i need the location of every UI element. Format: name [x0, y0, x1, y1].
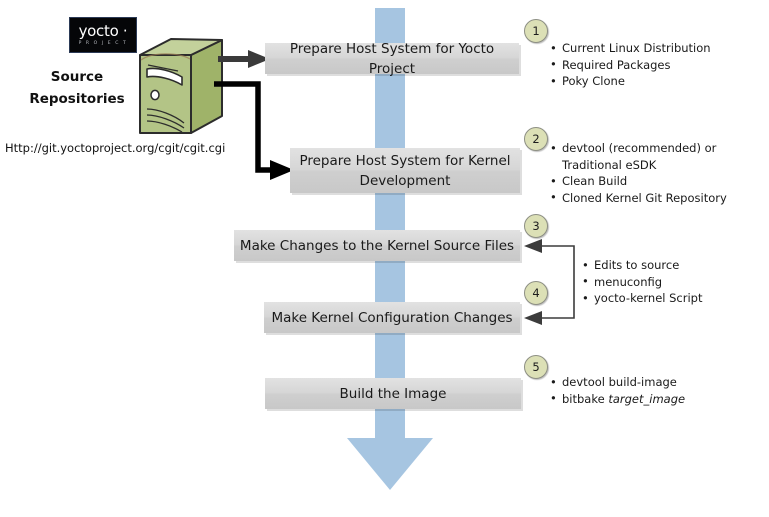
process-box-step5-label: Build the Image — [340, 384, 447, 404]
bullet-item: Edits to source — [582, 257, 703, 274]
flow-arrow-head — [347, 438, 433, 490]
bullet-list-step5: devtool build-image bitbake target_image — [550, 374, 685, 407]
bullet-item: Current Linux Distribution — [550, 40, 711, 57]
step-circle-4: 4 — [524, 281, 548, 305]
process-box-step3[interactable]: Make Changes to the Kernel Source Files — [234, 230, 520, 261]
step-circle-1: 1 — [524, 19, 548, 43]
process-box-step4-label: Make Kernel Configuration Changes — [271, 308, 512, 328]
bullet-item: Required Packages — [550, 57, 711, 74]
step-number-2: 2 — [532, 132, 539, 146]
bullet-item-bitbake: bitbake target_image — [550, 391, 685, 408]
step-number-5: 5 — [532, 360, 539, 374]
step-circle-5: 5 — [524, 355, 548, 379]
bullet-list-step1: Current Linux Distribution Required Pack… — [550, 40, 711, 90]
bullet-list-step2: devtool (recommended) or Traditional eSD… — [550, 140, 727, 206]
step-number-4: 4 — [532, 286, 539, 300]
bullet-item-continuation: Traditional eSDK — [550, 157, 727, 174]
process-box-step1-label: Prepare Host System for Yocto Project — [265, 39, 519, 79]
bullet-item: Poky Clone — [550, 73, 711, 90]
step-number-1: 1 — [532, 24, 539, 38]
connector-server-to-step2 — [212, 78, 302, 180]
process-box-step1[interactable]: Prepare Host System for Yocto Project — [265, 43, 519, 74]
bullet-item: menuconfig — [582, 274, 703, 291]
process-box-step2-line2: Development — [360, 173, 451, 189]
process-box-step3-label: Make Changes to the Kernel Source Files — [240, 236, 514, 256]
source-repository-url: Http://git.yoctoproject.org/cgit/cgit.cg… — [5, 141, 225, 155]
process-box-step5[interactable]: Build the Image — [265, 378, 521, 409]
process-box-step4[interactable]: Make Kernel Configuration Changes — [264, 302, 520, 333]
process-box-step2-line1: Prepare Host System for Kernel — [299, 153, 510, 169]
bullet-item-bitbake-target: target_image — [608, 392, 685, 406]
bullet-item: devtool (recommended) or — [550, 140, 727, 157]
bullet-item-bitbake-command: bitbake — [562, 392, 608, 406]
step-circle-3: 3 — [524, 214, 548, 238]
bullet-item: Clean Build — [550, 173, 727, 190]
process-box-step2-label: Prepare Host System for Kernel Developme… — [299, 151, 510, 191]
source-label-line2: Repositories — [18, 88, 136, 110]
bullet-list-step3-step4: Edits to source menuconfig yocto-kernel … — [582, 257, 703, 307]
connector-loop-step3-step4 — [518, 236, 584, 326]
step-number-3: 3 — [532, 219, 539, 233]
step-circle-2: 2 — [524, 127, 548, 151]
source-repositories-label: Source Repositories — [18, 66, 136, 110]
bullet-item: yocto-kernel Script — [582, 290, 703, 307]
yocto-project-logo: yocto · P R O J E C T — [69, 17, 137, 53]
process-box-step2[interactable]: Prepare Host System for Kernel Developme… — [290, 148, 520, 193]
source-label-line1: Source — [18, 66, 136, 88]
bullet-item: devtool build-image — [550, 374, 685, 391]
yocto-logo-wordmark: yocto · — [79, 24, 128, 39]
bullet-item: Cloned Kernel Git Repository — [550, 190, 727, 207]
diagram-canvas: yocto · P R O J E C T Source Repositorie… — [0, 0, 769, 517]
yocto-logo-subtitle: P R O J E C T — [79, 40, 128, 47]
